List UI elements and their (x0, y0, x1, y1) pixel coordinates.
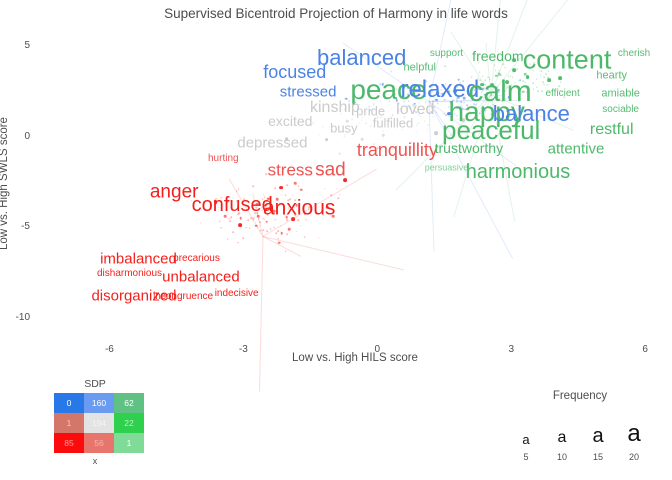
sdp-legend-cell: 160 (84, 393, 114, 413)
scatter-point (330, 194, 332, 196)
scatter-point (365, 122, 367, 124)
word-label: sociable (602, 105, 639, 115)
plot-panel: balancedfocusedstressedsupporthelpfulfre… (38, 24, 672, 340)
frequency-legend: Frequency aaaa 5101520 (500, 390, 660, 476)
frequency-legend-glyph: a (551, 430, 573, 446)
scatter-point (259, 225, 261, 227)
scatter-point (435, 111, 437, 113)
scatter-point (383, 131, 385, 133)
word-label: amiable (601, 88, 640, 99)
scatter-point (390, 71, 392, 73)
frequency-legend-label: 20 (623, 452, 645, 462)
scatter-point (536, 79, 538, 81)
word-label: trustworthy (435, 141, 503, 155)
scatter-point (274, 187, 276, 189)
scatter-point (227, 238, 229, 240)
scatter-point (277, 238, 279, 240)
scatter-point (265, 220, 268, 223)
scatter-point (416, 131, 418, 133)
scatter-point (344, 136, 346, 138)
scatter-point (382, 134, 385, 137)
scatter-point (279, 186, 283, 190)
scatter-point (414, 118, 416, 120)
word-label: confused (192, 195, 273, 215)
scatter-point (252, 218, 254, 220)
scatter-point (337, 198, 339, 200)
word-label: stress (268, 162, 313, 179)
scatter-point (200, 222, 202, 224)
word-label: hurting (208, 154, 239, 164)
scatter-point (547, 78, 551, 82)
frequency-legend-glyphs: aaaa (500, 410, 660, 446)
scatter-point (258, 218, 260, 220)
word-label: helpful (404, 63, 436, 74)
word-label: depressed (237, 135, 307, 150)
scatter-point (541, 90, 543, 92)
scatter-point (270, 228, 272, 230)
scatter-point (498, 72, 500, 74)
word-label: disharmonious (97, 269, 162, 279)
connector-line (263, 236, 302, 257)
frequency-legend-glyph: a (623, 422, 645, 446)
sdp-legend-cell: 1 (54, 413, 84, 433)
scatter-point (267, 230, 269, 232)
scatter-point (292, 194, 294, 196)
page-title: Supervised Bicentroid Projection of Harm… (0, 6, 672, 21)
y-axis-label-text: Low vs. High SWLS score (0, 234, 10, 250)
frequency-legend-title: Frequency (500, 390, 660, 402)
scatter-point (533, 88, 535, 90)
scatter-point (560, 81, 562, 83)
frequency-legend-label: 10 (551, 452, 573, 462)
scatter-point (232, 231, 234, 233)
sdp-legend-title: SDP (40, 378, 150, 390)
scatter-point (383, 138, 385, 140)
word-label: support (430, 49, 463, 59)
scatter-point (416, 125, 418, 127)
scatter-point (494, 64, 496, 66)
sdp-legend-cell: 62 (114, 393, 144, 413)
scatter-point (318, 237, 320, 239)
scatter-point (249, 228, 251, 230)
scatter-point (252, 186, 254, 188)
sdp-legend-cell: 85 (54, 433, 84, 453)
word-label: harmonious (466, 162, 571, 182)
frequency-legend-label: 15 (587, 452, 609, 462)
word-label: imbalanced (100, 252, 177, 267)
scatter-point (238, 188, 240, 190)
sdp-legend-grid: 01606211942285561 (54, 393, 144, 453)
scatter-point (287, 233, 289, 235)
word-label: balanced (317, 47, 406, 69)
scatter-point (546, 84, 548, 86)
scatter-point (424, 120, 426, 122)
scatter-point (338, 153, 341, 156)
x-axis-label: Low vs. High HILS score (38, 352, 672, 364)
word-label: focused (263, 63, 326, 81)
scatter-point (239, 217, 242, 220)
scatter-point (278, 231, 280, 233)
scatter-point (536, 87, 538, 89)
scatter-point (417, 123, 419, 125)
chart-canvas: Supervised Bicentroid Projection of Harm… (0, 0, 672, 480)
scatter-point (257, 227, 259, 229)
scatter-point (369, 126, 371, 128)
scatter-point (220, 227, 222, 229)
scatter-point (544, 76, 546, 78)
scatter-point (286, 185, 288, 187)
scatter-point (294, 182, 297, 185)
scatter-point (361, 119, 363, 121)
scatter-point (273, 227, 275, 229)
word-label: hearty (596, 70, 627, 81)
scatter-point (512, 68, 516, 72)
scatter-point (236, 190, 238, 192)
scatter-point (260, 230, 262, 232)
scatter-point (532, 83, 534, 85)
scatter-point (247, 219, 249, 221)
frequency-legend-glyph: a (515, 433, 537, 446)
frequency-legend-label: 5 (515, 452, 537, 462)
word-label: fulfilled (373, 116, 413, 129)
scatter-point (325, 138, 329, 142)
scatter-point (253, 217, 255, 219)
scatter-point (280, 225, 282, 227)
scatter-point (288, 228, 291, 231)
word-label: efficient (545, 89, 579, 99)
frequency-legend-glyph: a (587, 426, 609, 446)
connector-line (259, 236, 264, 391)
frequency-legend-labels: 5101520 (500, 450, 660, 464)
word-label: peaceful (442, 117, 540, 143)
sdp-legend-cell: 194 (84, 413, 114, 433)
word-label: excited (268, 114, 312, 128)
scatter-point (230, 220, 232, 222)
scatter-point (336, 188, 338, 190)
scatter-point (339, 194, 341, 196)
scatter-point (547, 76, 549, 78)
scatter-point (300, 188, 303, 191)
word-label: anxious (263, 198, 335, 219)
word-label: kinship (310, 100, 360, 116)
scatter-point (543, 84, 545, 86)
sdp-legend-cell: 22 (114, 413, 144, 433)
scatter-point (285, 250, 287, 252)
y-axis-tick-label: 5 (0, 40, 30, 51)
connector-line (428, 102, 434, 252)
scatter-point (479, 71, 481, 73)
y-axis-tick-label: -10 (0, 312, 30, 323)
scatter-point (230, 216, 232, 218)
scatter-point (228, 218, 230, 220)
scatter-point (495, 69, 497, 71)
sdp-legend-x-label: x (40, 456, 150, 466)
scatter-point (280, 232, 283, 235)
scatter-point (426, 129, 428, 131)
scatter-point (296, 231, 298, 233)
scatter-point (245, 227, 247, 229)
scatter-point (219, 220, 221, 222)
word-label: unbalanced (162, 270, 240, 285)
word-label: cherish (618, 49, 650, 59)
word-label: precarious (173, 254, 220, 264)
word-label: restful (590, 122, 634, 138)
scatter-point (278, 241, 281, 244)
sdp-legend-cell: 0 (54, 393, 84, 413)
word-label: indecisive (215, 289, 259, 299)
scatter-point (298, 185, 300, 187)
scatter-point (304, 236, 306, 238)
scatter-point (251, 217, 253, 219)
scatter-point (505, 67, 507, 69)
scatter-point (359, 122, 361, 124)
scatter-point (516, 69, 518, 71)
scatter-point (242, 237, 244, 239)
word-label: attentive (548, 142, 605, 157)
word-label: stressed (280, 85, 337, 100)
word-label: sad (315, 161, 346, 180)
scatter-point (300, 225, 302, 227)
scatter-point (238, 242, 240, 244)
scatter-point (238, 223, 242, 227)
scatter-point (427, 124, 429, 126)
word-label: busy (330, 122, 357, 135)
word-label: tranquillity (357, 141, 438, 159)
scatter-point (260, 221, 262, 223)
sdp-legend-cell: 56 (84, 433, 114, 453)
scatter-point (352, 118, 354, 120)
scatter-point (537, 91, 539, 93)
scatter-point (319, 134, 321, 136)
word-label: persuasive (425, 164, 469, 173)
scatter-point (542, 81, 544, 83)
connector-line (263, 236, 404, 270)
word-label: incongruence (153, 292, 213, 302)
scatter-point (558, 86, 560, 88)
y-axis-label: Low vs. High SWLS score (0, 74, 10, 90)
scatter-point (324, 188, 326, 190)
scatter-point (262, 229, 264, 231)
scatter-point (559, 76, 563, 80)
word-label: freedom (472, 49, 523, 63)
scatter-point (275, 233, 277, 235)
scatter-point (444, 65, 446, 67)
sdp-legend: SDP y 01606211942285561 x (40, 378, 180, 474)
scatter-point (434, 131, 438, 135)
sdp-legend-cell: 1 (114, 433, 144, 453)
scatter-point (322, 126, 324, 128)
